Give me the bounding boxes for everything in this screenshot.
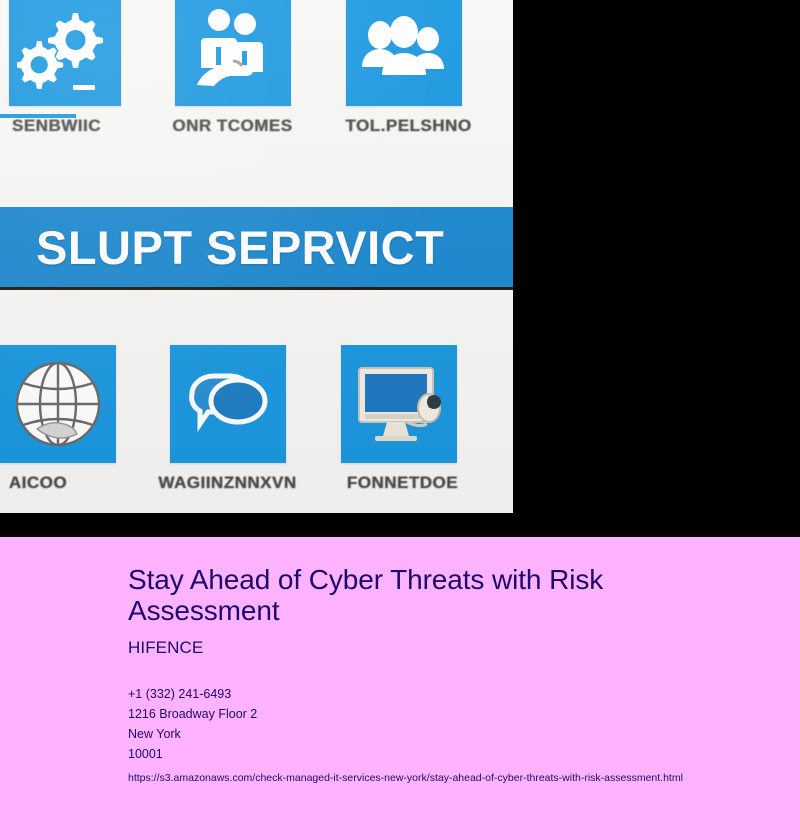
- street-address: 1216 Broadway Floor 2: [128, 704, 800, 724]
- phone-number: +1 (332) 241-6493: [128, 684, 800, 704]
- info-panel: Stay Ahead of Cyber Threats with Risk As…: [0, 537, 800, 840]
- tile-communication: WAGIINZNNXVN: [142, 345, 313, 493]
- tile-label: ONR TCOMES: [172, 116, 292, 136]
- hero-banner: SLUPT SEPRVICT: [0, 207, 513, 287]
- tile-box: [175, 0, 291, 106]
- tile-monitoring: FONNETDOE: [313, 345, 484, 493]
- tile-box: [0, 345, 116, 463]
- user-group-icon: [356, 0, 452, 95]
- tile-row-top: SENBWIIC: [0, 0, 513, 163]
- tile-label: AICOO: [9, 473, 67, 493]
- generated-infographic-image: SENBWIIC: [0, 0, 513, 513]
- postal-code: 10001: [128, 744, 800, 764]
- gears-icon: [17, 0, 113, 95]
- tile-label: TOL.PELSHNO: [345, 116, 471, 136]
- city: New York: [128, 724, 800, 744]
- tile-row-bottom: AICOO WAGIINZNNXVN: [0, 345, 513, 513]
- tile-box: [341, 345, 457, 463]
- tile-people: TOL.PELSHNO: [318, 0, 489, 136]
- tile-outcomes: ONR TCOMES: [147, 0, 318, 136]
- hero-banner-text: SLUPT SEPRVICT: [36, 224, 444, 271]
- source-url[interactable]: https://s3.amazonaws.com/check-managed-i…: [128, 770, 800, 786]
- tile-box: [9, 0, 121, 106]
- hero-image-region: SENBWIIC: [0, 0, 800, 537]
- organization-name: HIFENCE: [128, 638, 800, 658]
- globe-icon: [9, 355, 107, 453]
- tile-services: SENBWIIC: [0, 0, 147, 136]
- contact-block: +1 (332) 241-6493 1216 Broadway Floor 2 …: [128, 684, 800, 764]
- tile-box: [170, 345, 286, 463]
- tile-label: SENBWIIC: [12, 116, 101, 136]
- handshake-people-icon: [185, 0, 281, 95]
- tile-global: AICOO: [0, 345, 142, 493]
- tile-box: [346, 0, 462, 106]
- tile-label: WAGIINZNNXVN: [158, 473, 296, 493]
- desktop-monitor-icon: [349, 356, 449, 452]
- page-title: Stay Ahead of Cyber Threats with Risk As…: [128, 565, 708, 626]
- speech-bubbles-icon: [180, 356, 276, 452]
- tile-label: FONNETDOE: [347, 473, 458, 493]
